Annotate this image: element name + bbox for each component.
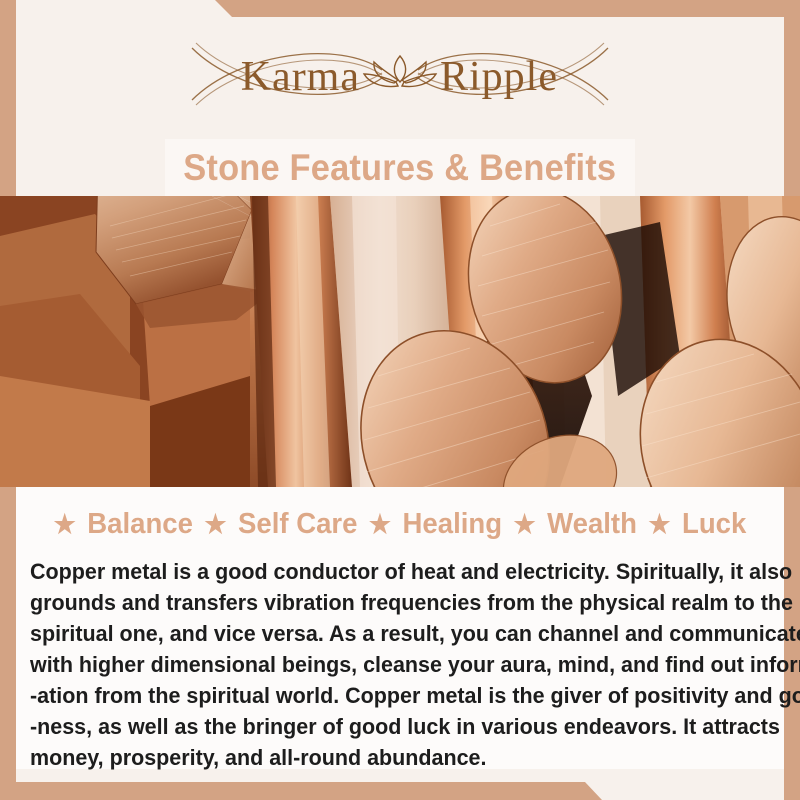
- description-line: spiritual one, and vice versa. As a resu…: [30, 618, 741, 649]
- star-icon: ★: [367, 509, 393, 539]
- description-line: Copper metal is a good conductor of heat…: [30, 556, 741, 587]
- description-line: grounds and transfers vibration frequenc…: [30, 587, 741, 618]
- description-line: -ness, as well as the bringer of good lu…: [30, 711, 741, 742]
- feature-luck: Luck: [680, 508, 748, 540]
- infographic-page: Karma Ripple Stone Features & Benefits: [0, 0, 800, 800]
- features-row: ★ Balance ★ Self Care ★ Healing ★ Wealth…: [35, 508, 765, 541]
- star-icon: ★: [203, 509, 229, 539]
- brand-logo: Karma Ripple: [0, 26, 800, 122]
- logo-svg: Karma Ripple: [120, 26, 680, 122]
- description-line: money, prosperity, and all-round abundan…: [30, 742, 741, 773]
- feature-healing: Healing: [401, 508, 504, 540]
- description-line: with higher dimensional beings, cleanse …: [30, 649, 741, 680]
- star-icon: ★: [646, 509, 672, 539]
- star-icon: ★: [512, 509, 538, 539]
- feature-wealth: Wealth: [545, 508, 639, 540]
- hero-image: Copper: [0, 196, 800, 487]
- brand-name-right: Ripple: [440, 54, 558, 100]
- frame-bottom-left-bar: [0, 782, 800, 800]
- description-line: -ation from the spiritual world. Copper …: [30, 680, 741, 711]
- copper-bars-illustration: [0, 196, 800, 487]
- description-text: Copper metal is a good conductor of heat…: [30, 556, 741, 773]
- feature-self-care: Self Care: [236, 508, 359, 540]
- feature-balance: Balance: [85, 508, 194, 540]
- title-band: Stone Features & Benefits: [165, 139, 635, 196]
- brand-name-left: Karma: [241, 54, 360, 100]
- frame-top-right-bar: [0, 0, 800, 17]
- star-icon: ★: [52, 509, 78, 539]
- page-title: Stone Features & Benefits: [184, 147, 617, 189]
